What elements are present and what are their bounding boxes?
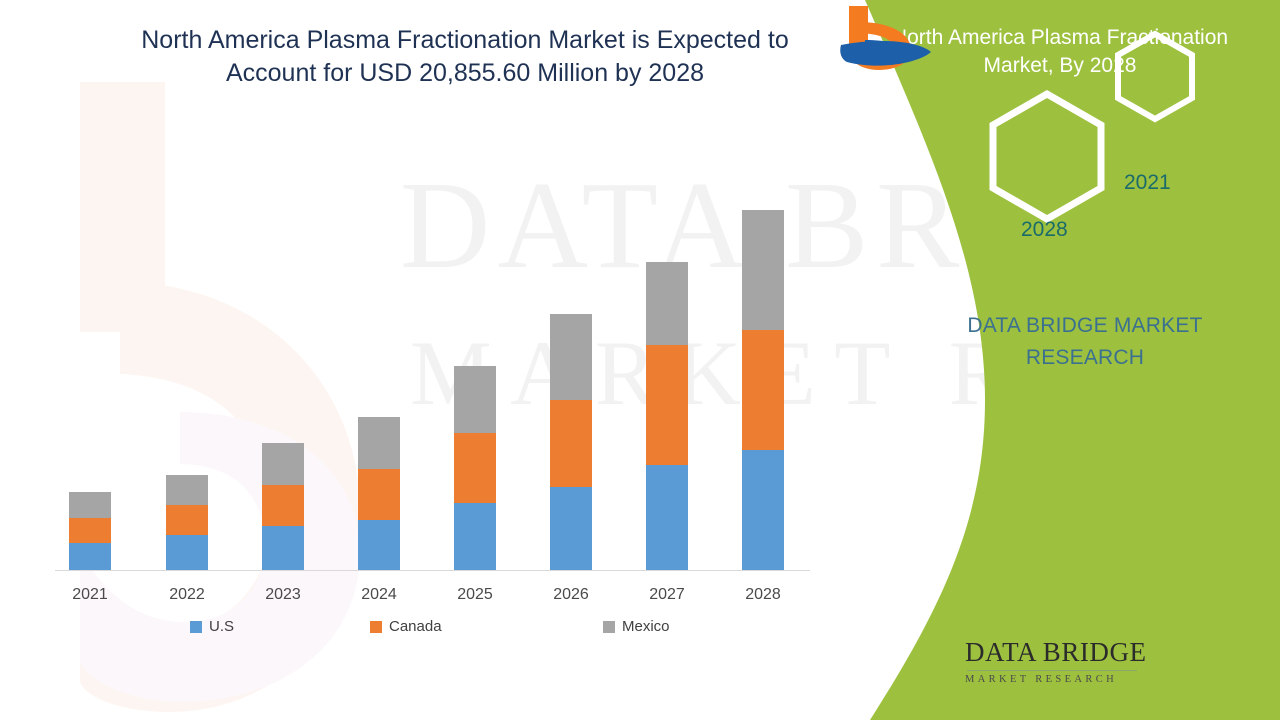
bar-segment-canada-2023 <box>262 485 304 526</box>
bar-segment-us-2025 <box>454 503 496 570</box>
stacked-bar-chart: 20212022202320242025202620272028 U.SCana… <box>0 0 860 720</box>
data-bridge-logo-icon <box>835 0 1055 72</box>
bar-segment-mexico-2027 <box>646 262 688 345</box>
bar-segment-us-2026 <box>550 487 592 570</box>
brand-name: DATA BRIDGE MARKET RESEARCH <box>920 310 1250 373</box>
bar-segment-us-2023 <box>262 526 304 570</box>
x-axis-label-2025: 2025 <box>430 586 520 604</box>
bar-segment-canada-2021 <box>69 518 111 543</box>
legend-swatch-icon <box>370 621 382 633</box>
legend-item-canada[interactable]: Canada <box>370 618 442 635</box>
bar-segment-us-2021 <box>69 543 111 570</box>
bar-segment-canada-2022 <box>166 505 208 535</box>
hexagon-label-2021: 2021 <box>1124 171 1171 195</box>
bar-2026 <box>550 314 592 570</box>
bar-segment-canada-2024 <box>358 469 400 520</box>
bar-2028 <box>742 210 784 570</box>
x-axis-label-2023: 2023 <box>238 586 328 604</box>
legend-swatch-icon <box>603 621 615 633</box>
hexagon-label-2028: 2028 <box>1021 218 1068 242</box>
bar-segment-mexico-2025 <box>454 366 496 433</box>
legend-label: U.S <box>209 618 234 635</box>
bar-segment-canada-2026 <box>550 400 592 487</box>
bar-2027 <box>646 262 688 570</box>
legend-item-us[interactable]: U.S <box>190 618 234 635</box>
bar-2022 <box>166 475 208 570</box>
infographic-canvas: DATA BRIDGE MARKET RESEARCH North Americ… <box>0 0 1280 720</box>
legend-item-mexico[interactable]: Mexico <box>603 618 670 635</box>
x-axis-label-2021: 2021 <box>45 586 135 604</box>
bar-segment-us-2022 <box>166 535 208 570</box>
bar-2024 <box>358 417 400 570</box>
logo-divider <box>967 670 1137 672</box>
x-axis-label-2026: 2026 <box>526 586 616 604</box>
bar-segment-canada-2027 <box>646 345 688 465</box>
bar-segment-canada-2025 <box>454 433 496 503</box>
legend-swatch-icon <box>190 621 202 633</box>
bar-segment-mexico-2026 <box>550 314 592 400</box>
bar-segment-mexico-2023 <box>262 443 304 485</box>
bar-segment-us-2027 <box>646 465 688 570</box>
bar-2025 <box>454 366 496 570</box>
x-axis-label-2022: 2022 <box>142 586 232 604</box>
bar-segment-mexico-2024 <box>358 417 400 469</box>
brand-panel: North America Plasma Fractionation Marke… <box>835 0 1280 720</box>
x-axis-label-2027: 2027 <box>622 586 712 604</box>
bar-segment-mexico-2022 <box>166 475 208 505</box>
x-axis-label-2028: 2028 <box>718 586 808 604</box>
bar-segment-us-2028 <box>742 450 784 570</box>
x-axis-label-2024: 2024 <box>334 586 424 604</box>
logo-main-text: DATA BRIDGE <box>965 638 1147 668</box>
x-axis-line <box>55 570 810 571</box>
legend-label: Canada <box>389 618 442 635</box>
legend-label: Mexico <box>622 618 670 635</box>
bar-segment-us-2024 <box>358 520 400 570</box>
bar-2021 <box>69 492 111 570</box>
bar-segment-canada-2028 <box>742 330 784 450</box>
logo-sub-text: MARKET RESEARCH <box>965 674 1147 685</box>
chart-legend: U.SCanadaMexico <box>0 618 860 642</box>
bar-2023 <box>262 443 304 570</box>
bar-segment-mexico-2028 <box>742 210 784 330</box>
logo-wordmark: DATA BRIDGE MARKET RESEARCH <box>965 638 1147 685</box>
bar-segment-mexico-2021 <box>69 492 111 518</box>
